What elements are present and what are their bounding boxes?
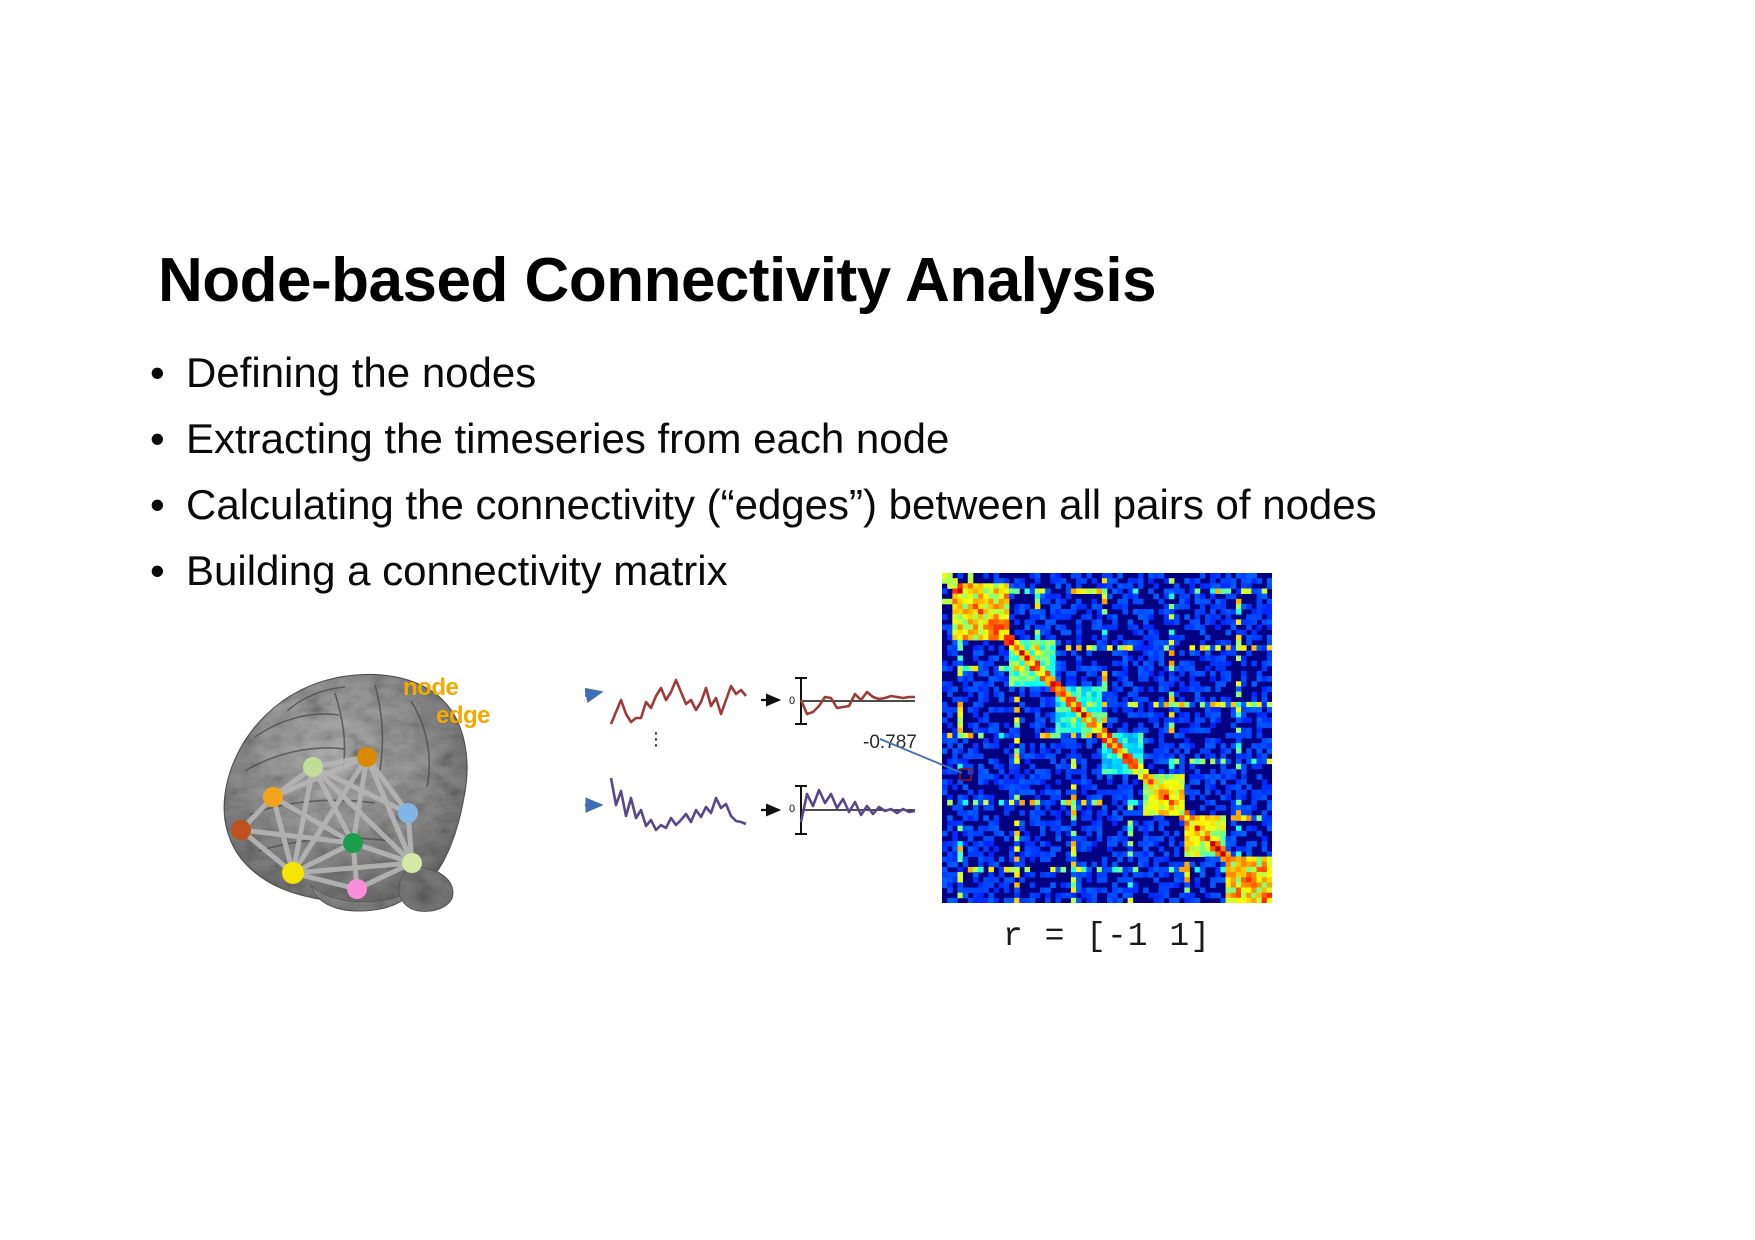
bullet-marker: • bbox=[150, 352, 165, 394]
node-annotation-label: node bbox=[403, 674, 458, 702]
ellipsis-dot: · bbox=[649, 742, 663, 748]
list-item: • Defining the nodes bbox=[150, 352, 1630, 394]
timeseries-purple-normalized bbox=[801, 790, 915, 822]
list-item-label: Calculating the connectivity (“edges”) b… bbox=[186, 481, 1377, 528]
list-item-label: Building a connectivity matrix bbox=[186, 547, 728, 594]
list-item: • Calculating the connectivity (“edges”)… bbox=[150, 484, 1630, 526]
bullet-marker: • bbox=[150, 484, 165, 526]
timeseries-red-normalized bbox=[801, 692, 915, 714]
timeseries-purple-raw bbox=[611, 778, 746, 830]
connectivity-matrix-svg bbox=[942, 573, 1272, 903]
node-orange-left[interactable] bbox=[263, 787, 283, 807]
brain-svg bbox=[215, 645, 515, 915]
list-item-label: Extracting the timeseries from each node bbox=[186, 415, 949, 462]
bullet-marker: • bbox=[150, 550, 165, 592]
connectivity-figure: node edge bbox=[215, 630, 1545, 1030]
list-item: • Extracting the timeseries from each no… bbox=[150, 418, 1630, 460]
page-title: Node-based Connectivity Analysis bbox=[158, 248, 1558, 313]
zero-label: 0 bbox=[789, 695, 795, 707]
node-light-blue-right[interactable] bbox=[398, 803, 418, 823]
correlation-value-label: -0.787 bbox=[863, 732, 917, 754]
list-item-label: Defining the nodes bbox=[186, 349, 536, 396]
node-pale-green-right[interactable] bbox=[402, 853, 422, 873]
matrix-caption: r = [-1 1] bbox=[942, 918, 1272, 955]
list-item: • Building a connectivity matrix bbox=[150, 550, 1630, 592]
node-rust-left[interactable] bbox=[231, 820, 251, 840]
node-yellow-bottom[interactable] bbox=[282, 862, 304, 884]
slide-canvas: Node-based Connectivity Analysis • Defin… bbox=[0, 0, 1755, 1240]
brain-graph-panel bbox=[215, 645, 515, 905]
pointer-arrows bbox=[585, 692, 601, 806]
timeseries-red-raw bbox=[611, 680, 746, 724]
connectivity-matrix-panel bbox=[942, 573, 1272, 903]
bullet-marker: • bbox=[150, 418, 165, 460]
node-pink-bottom[interactable] bbox=[347, 879, 367, 899]
edge-annotation-label: edge bbox=[436, 702, 490, 730]
node-pale-green-upper[interactable] bbox=[303, 757, 323, 777]
series-ellipsis: · · · bbox=[649, 730, 663, 748]
node-green-center[interactable] bbox=[343, 833, 363, 853]
node-dark-orange-top[interactable] bbox=[357, 747, 377, 767]
bullet-list: • Defining the nodes • Extracting the ti… bbox=[150, 352, 1630, 616]
zero-label-bottom: 0 bbox=[789, 803, 795, 815]
